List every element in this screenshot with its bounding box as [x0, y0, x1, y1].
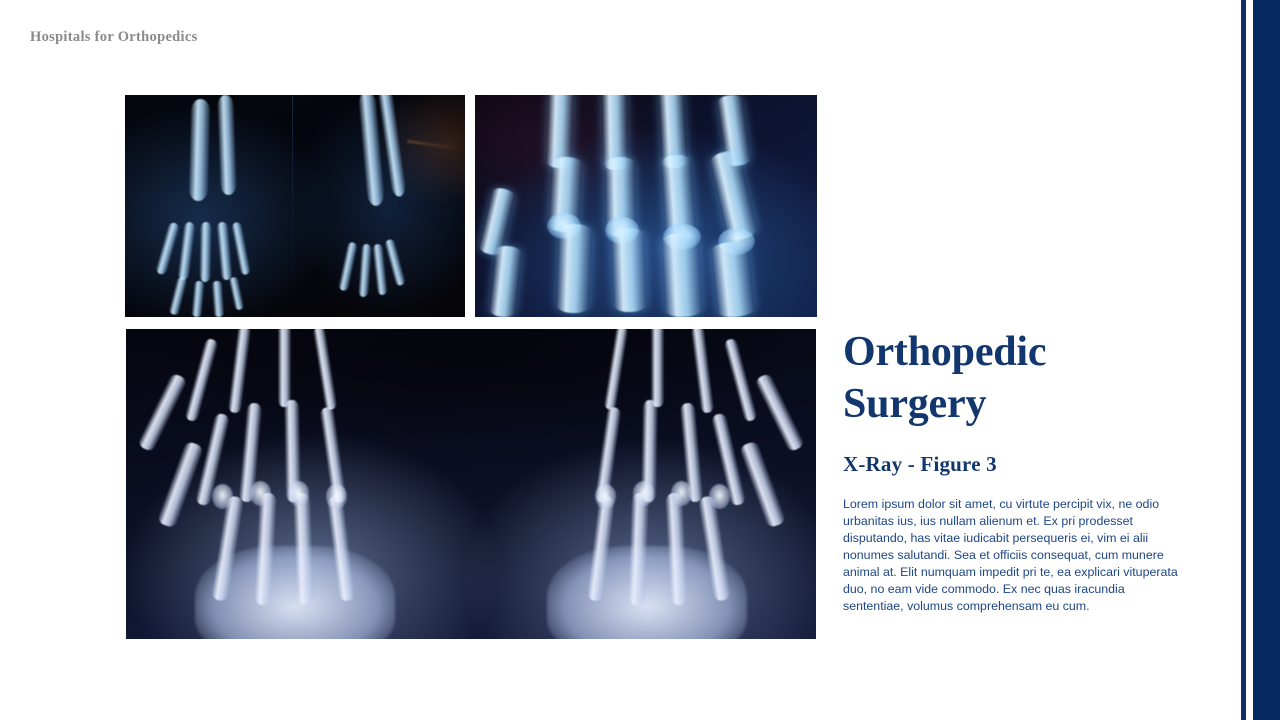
right-knuckle-2 [671, 481, 692, 506]
page-title: Orthopedic Surgery [843, 326, 1183, 430]
xray-fingers-image [475, 95, 817, 317]
right-accent-band [1253, 0, 1280, 720]
finger-proximal-3 [661, 232, 703, 317]
metacarpal-left-3 [199, 221, 211, 281]
film-seam [292, 95, 294, 317]
left-thumb-proximal [157, 440, 204, 528]
body-paragraph: Lorem ipsum dolor sit amet, cu virtute p… [843, 496, 1179, 615]
slide-header-label: Hospitals for Orthopedics [30, 29, 198, 46]
right-knuckle-1 [709, 484, 730, 509]
right-distal-1 [723, 338, 757, 422]
left-knuckle-1 [212, 484, 233, 509]
right-knuckle-3 [633, 481, 654, 506]
xray-hands-render [126, 329, 816, 639]
right-knuckle-4 [595, 484, 616, 509]
left-metacarpal-3 [293, 493, 314, 605]
left-knuckle-2 [250, 481, 271, 506]
xray-forearms-image [125, 95, 465, 317]
right-distal-3 [651, 329, 664, 407]
bone-ulna-left [217, 95, 236, 195]
left-thumb-distal [137, 373, 188, 453]
left-distal-4 [313, 329, 338, 410]
slide-canvas: Hospitals for Orthopedics [0, 0, 1280, 720]
left-knuckle-3 [288, 481, 309, 506]
bone-radius-left [188, 99, 210, 202]
xray-hands-image [126, 329, 816, 639]
xray-forearms-render [125, 95, 465, 317]
left-distal-1 [184, 338, 218, 422]
finger-proximal-1 [556, 223, 593, 313]
xray-fingers-render [475, 95, 817, 317]
page-subtitle: X-Ray - Figure 3 [843, 452, 1183, 477]
right-thumb-proximal [738, 440, 785, 528]
right-accent-rule [1241, 0, 1246, 720]
right-thumb-distal [754, 373, 805, 453]
right-distal-2 [691, 329, 715, 413]
text-column: Orthopedic Surgery X-Ray - Figure 3 Lore… [843, 326, 1183, 615]
left-distal-3 [278, 329, 291, 407]
finger-proximal-2 [610, 228, 647, 314]
left-knuckle-4 [326, 484, 347, 509]
hand-left [126, 329, 471, 639]
right-distal-4 [604, 329, 629, 410]
left-distal-2 [228, 329, 252, 413]
hand-right [471, 329, 816, 639]
